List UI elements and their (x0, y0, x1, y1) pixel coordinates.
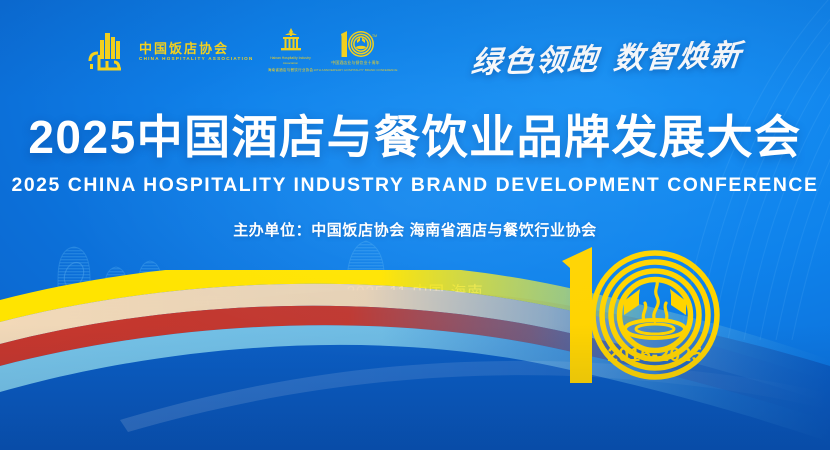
cha-name-en: CHINA HOSPITALITY ASSOCIATION (139, 57, 254, 62)
tenth-line1: 中国酒店业与餐饮业十周年 (331, 61, 380, 66)
page-subtitle: 2025 CHINA HOSPITALITY INDUSTRY BRAND DE… (0, 176, 830, 195)
cha-name-cn: 中国饭店协会 (139, 42, 254, 55)
logo-strip: 中国饭店协会 CHINA HOSPITALITY ASSOCIATION (88, 28, 384, 73)
logo-hainan-association: Hainan Hospitality Industry Association … (268, 28, 314, 73)
anniversary-emblem: 2016-2025 (540, 243, 725, 388)
title-block: 2025中国酒店与餐饮业品牌发展大会 2025 CHINA HOSPITALIT… (0, 112, 830, 195)
cha-building-icon (88, 31, 132, 73)
logo-tenth-anniversary: TM 中国酒店业与餐饮业十周年 10TH ANNIVERSARY HOSPITA… (328, 30, 384, 72)
svg-text:TM: TM (372, 34, 377, 38)
emblem-years: 2016-2025 (607, 345, 702, 366)
page-title: 2025中国酒店与餐饮业品牌发展大会 (0, 112, 830, 163)
slogan: 绿色领跑数智焕新 (470, 30, 745, 82)
slogan-part2: 数智焕新 (612, 38, 744, 77)
hainan-association-icon (279, 28, 303, 54)
tenth-anniversary-icon: TM (335, 30, 377, 58)
cha-text: 中国饭店协会 CHINA HOSPITALITY ASSOCIATION (139, 42, 254, 62)
tenth-line2: 10TH ANNIVERSARY HOSPITALITY BRAND CONFE… (313, 69, 397, 73)
logo-china-hospitality-association: 中国饭店协会 CHINA HOSPITALITY ASSOCIATION (88, 31, 254, 73)
hainan-assoc-line1: Hainan Hospitality Industry (270, 56, 311, 60)
conference-banner: 中国饭店协会 CHINA HOSPITALITY ASSOCIATION (0, 0, 830, 450)
hainan-assoc-line3: 海南省酒店与餐饮行业协会 (268, 68, 314, 73)
slogan-part1: 绿色领跑 (470, 42, 602, 81)
hainan-assoc-line2: Association (283, 62, 298, 66)
organizer-line: 主办单位：中国饭店协会 海南省酒店与餐饮行业协会 (0, 219, 830, 240)
